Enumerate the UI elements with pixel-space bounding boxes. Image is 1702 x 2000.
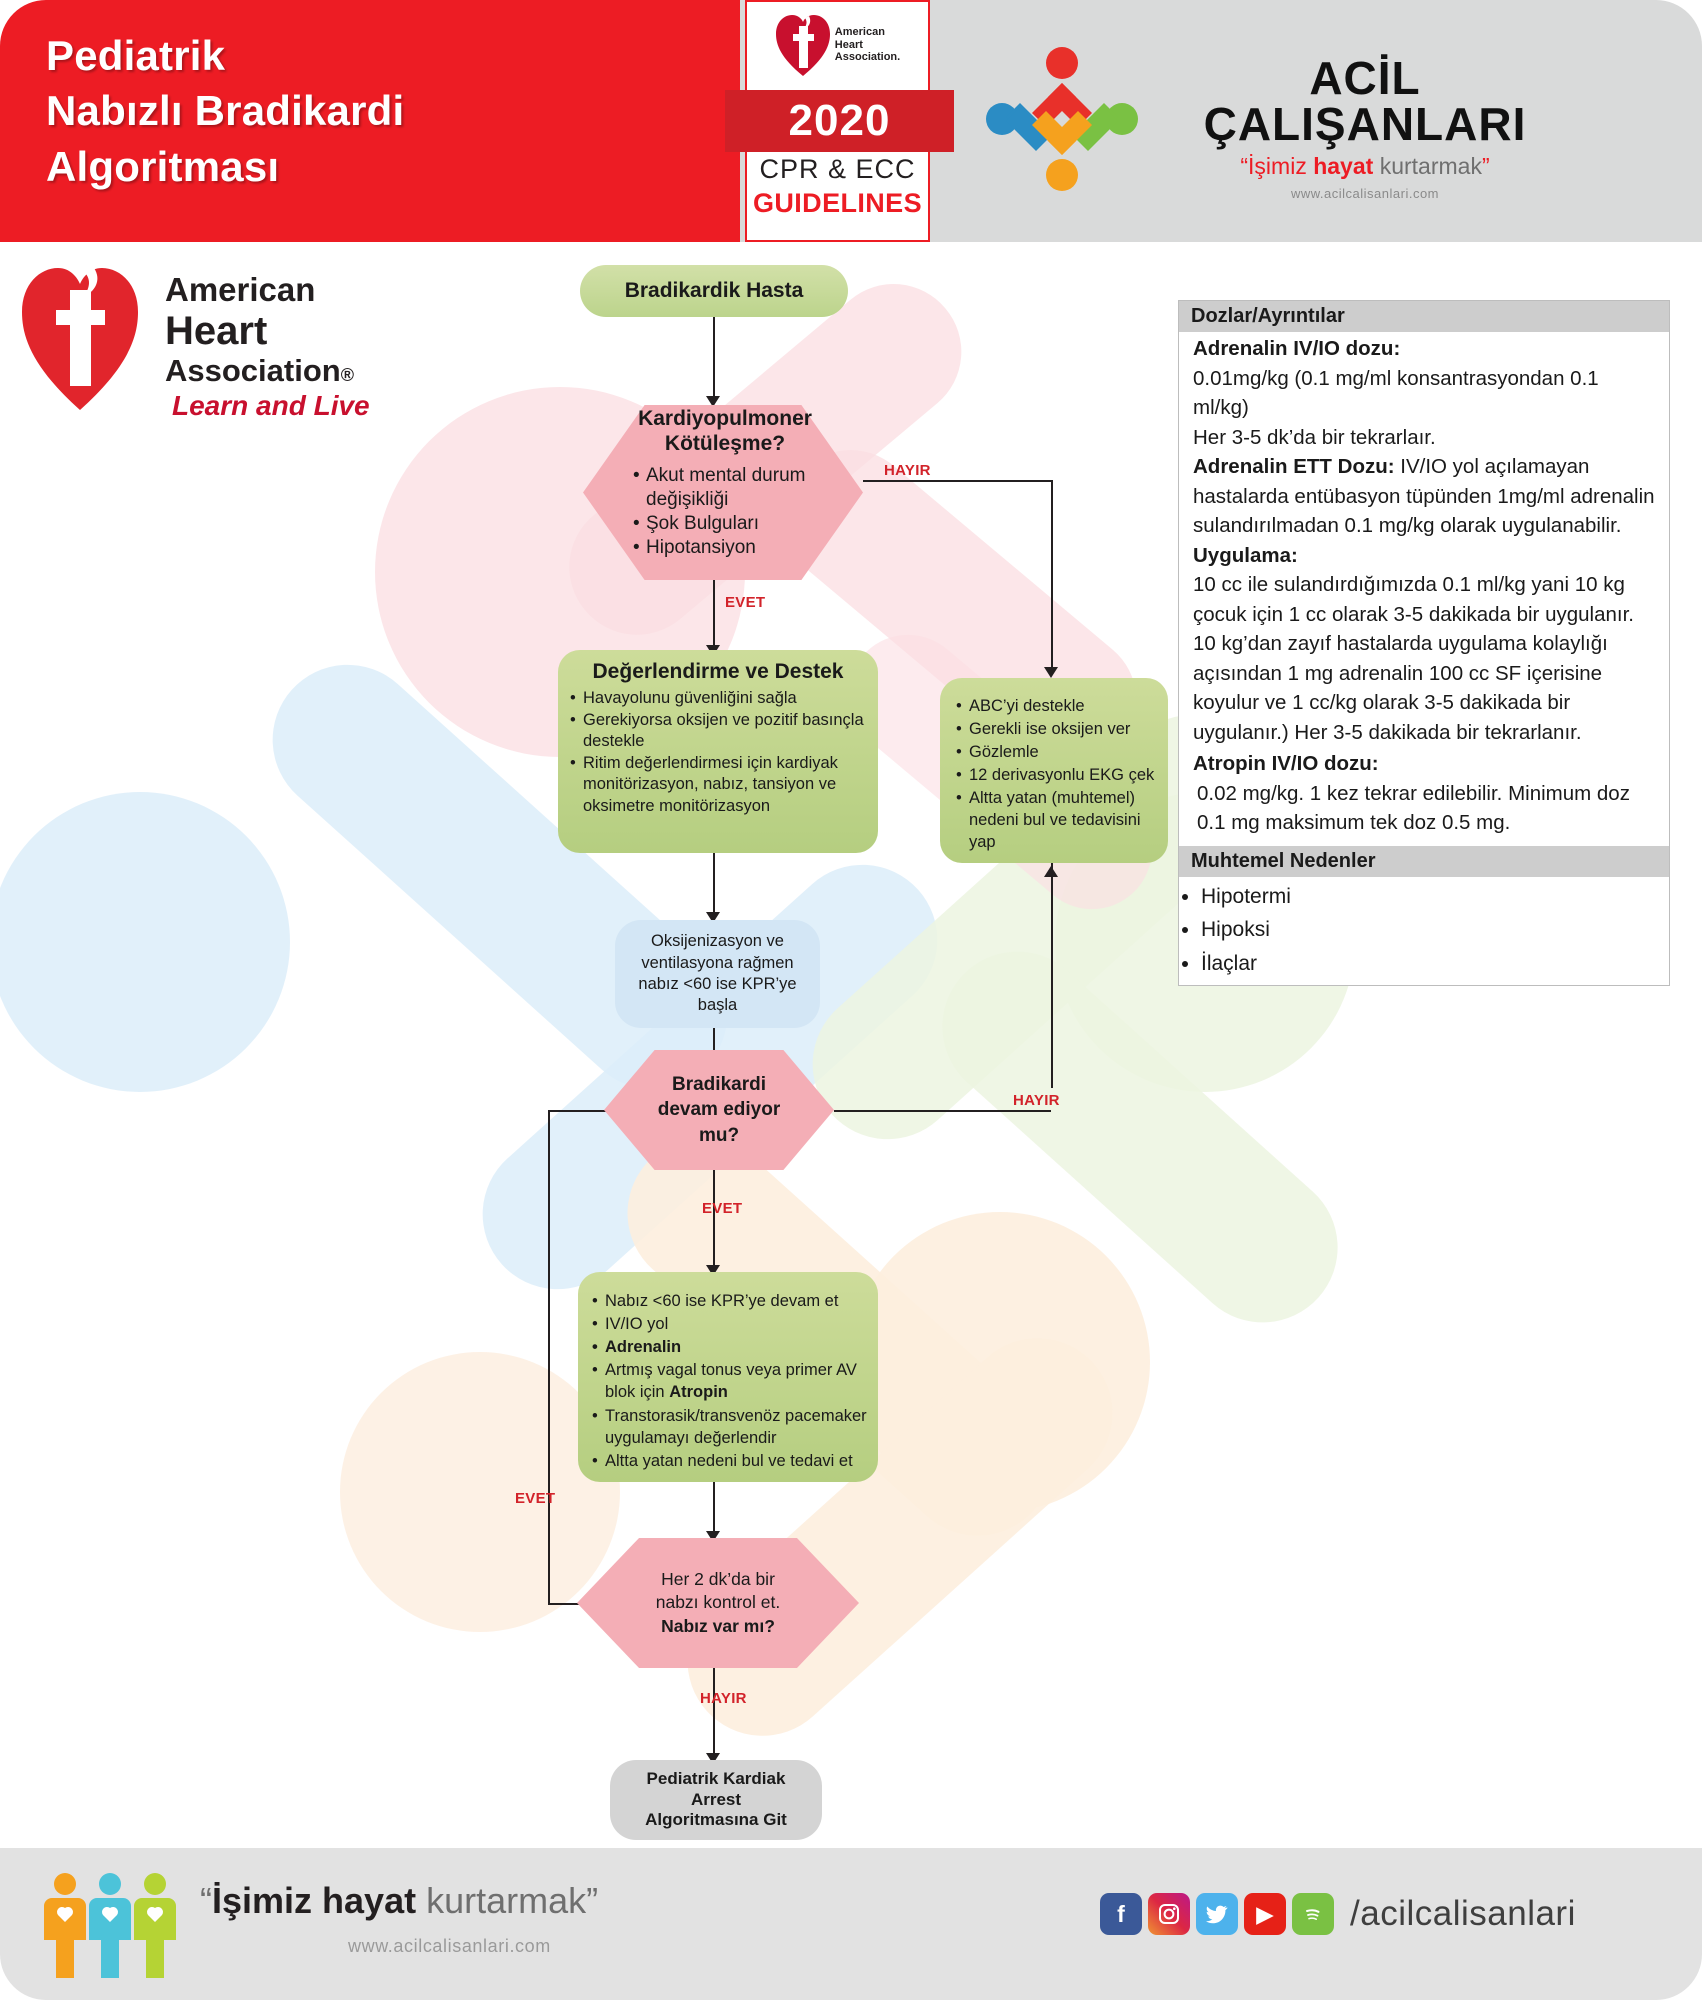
- badge-guidelines: GUIDELINES: [747, 188, 928, 219]
- list-item: Gözlemle: [956, 742, 1160, 764]
- list-item: Hipotermi: [1201, 881, 1669, 913]
- flow-end-line-2: Arrest: [691, 1790, 741, 1811]
- youtube-icon[interactable]: ▶: [1244, 1893, 1286, 1935]
- badge-aha-text: American Heart Association.: [835, 26, 900, 65]
- list-item: Havayolunu güvenliğini sağla: [570, 688, 868, 709]
- footer-quote-open: “: [200, 1880, 212, 1921]
- slogan-bold: hayat: [1313, 153, 1373, 179]
- connector-decision3-no: [713, 1668, 715, 1756]
- footer-slogan-part-1: İşimiz: [212, 1880, 322, 1921]
- flow-decision1-content: Kardiyopulmoner Kötüleşme? Akut mental d…: [600, 398, 850, 560]
- badge-aha-line-2: Heart: [835, 39, 900, 52]
- badge-aha-lockup: American Heart Association.: [769, 2, 906, 80]
- footer-slogan-part-2: kurtarmak: [416, 1880, 586, 1921]
- adrenalin-iv-text: 0.01mg/kg (0.1 mg/ml konsantrasyondan 0.…: [1193, 364, 1655, 423]
- list-item: Hipotansiyon: [633, 536, 850, 559]
- aha-logo-text: American Heart Association®: [165, 272, 354, 388]
- instagram-icon[interactable]: [1148, 1893, 1190, 1935]
- flow-node-cpr-note[interactable]: Oksijenizasyon ve ventilasyona rağmen na…: [615, 920, 820, 1028]
- flow-node-assessment[interactable]: Değerlendirme ve Destek Havayolunu güven…: [558, 650, 878, 853]
- aha-line-1: American: [165, 272, 354, 309]
- aha-logo: American Heart Association® Learn and Li…: [20, 262, 430, 462]
- list-item: Akut mental durum değişikliği: [633, 464, 850, 510]
- flow-decision1-bullets: Akut mental durum değişikliği Şok Bulgul…: [633, 464, 850, 559]
- badge-aha-line-1: American: [835, 26, 900, 39]
- badge-cpr-ecc: CPR & ECC: [747, 154, 928, 185]
- dose-details-panel: Dozlar/Ayrıntılar Adrenalin IV/IO dozu: …: [1178, 300, 1670, 986]
- connector-decision1-no: [863, 480, 1053, 482]
- aha-heart-torch-icon: [20, 262, 140, 412]
- page-footer: “İşimiz hayat kurtarmak” www.acilcalisan…: [0, 1848, 1702, 2000]
- page-title-line-3: Algoritması: [46, 139, 686, 194]
- label-decision2-yes: EVET: [702, 1200, 742, 1217]
- page-header: Pediatrik Nabızlı Bradikardi Algoritması…: [0, 0, 1702, 242]
- list-item: Hipoksi: [1201, 914, 1669, 946]
- uygulama-text: 10 cc ile sulandırdığımızda 0.1 ml/kg ya…: [1193, 570, 1655, 747]
- connector-decision1-yes: [713, 580, 715, 648]
- connector-assessment-to-cprnote: [713, 853, 715, 915]
- list-item: IV/IO yol: [592, 1313, 870, 1335]
- connector-decision2-no: [834, 1110, 1051, 1112]
- acil-calisanlari-logo-icon: [980, 45, 1145, 195]
- label-decision2-no: HAYIR: [1013, 1092, 1060, 1109]
- aha-heart-torch-icon: [775, 12, 831, 78]
- spotify-icon[interactable]: [1292, 1893, 1334, 1935]
- flow-decision3-line-3: Nabız var mı?: [656, 1615, 781, 1639]
- connector-loop-top: [548, 1110, 606, 1112]
- flow-decision2-line-3: mu?: [658, 1123, 781, 1148]
- label-decision1-no: HAYIR: [884, 462, 931, 479]
- flow-decision3-line-1: Her 2 dk’da bir: [656, 1568, 781, 1592]
- flow-assessment-title: Değerlendirme ve Destek: [558, 660, 878, 684]
- list-item: ABC’yi destekle: [956, 696, 1160, 718]
- list-item: Nabız <60 ise KPR’ye devam et: [592, 1290, 870, 1312]
- list-item: Ritim değerlendirmesi için kardiyak moni…: [570, 753, 868, 816]
- brand-slogan: “İşimiz hayat kurtarmak”: [1155, 155, 1575, 178]
- page-title-line-2: Nabızlı Bradikardi: [46, 83, 686, 138]
- social-links: f ▶ /acilcalisanlari: [1100, 1893, 1576, 1935]
- brand-lockup: ACİL ÇALIŞANLARI “İşimiz hayat kurtarmak…: [1155, 55, 1575, 201]
- atropin-text: 0.02 mg/kg. 1 kez tekrar edilebilir. Min…: [1193, 779, 1655, 838]
- connector-decision2-yes: [713, 1170, 715, 1268]
- aha-line-3: Association®: [165, 354, 354, 389]
- slogan-quote-open: “: [1240, 153, 1248, 179]
- badge-year-band: 2020: [725, 90, 954, 152]
- brand-name: ACİL ÇALIŞANLARI: [1155, 55, 1575, 147]
- flow-cpr-note-text: Oksijenizasyon ve ventilasyona rağmen na…: [615, 931, 820, 1017]
- flow-node-end-cardiac-arrest[interactable]: Pediatrik Kardiak Arrest Algoritmasına G…: [610, 1760, 822, 1840]
- uygulama-label: Uygulama:: [1193, 544, 1298, 567]
- flow-end-line-3: Algoritmasına Git: [645, 1810, 787, 1831]
- flow-start-label: Bradikardik Hasta: [625, 279, 804, 303]
- flow-node-treatment[interactable]: Nabız <60 ise KPR’ye devam et IV/IO yol …: [578, 1272, 878, 1482]
- footer-quote-close: ”: [586, 1880, 598, 1921]
- slogan-part-2: kurtarmak: [1373, 153, 1482, 179]
- twitter-icon[interactable]: [1196, 1893, 1238, 1935]
- causes-header: Muhtemel Nedenler: [1179, 846, 1669, 877]
- flow-decision1-title-2: Kötüleşme?: [600, 431, 850, 456]
- dose-panel-body: Adrenalin IV/IO dozu: 0.01mg/kg (0.1 mg/…: [1179, 332, 1669, 846]
- atropin-label: Atropin IV/IO dozu:: [1193, 752, 1379, 775]
- flow-assessment-bullets: Havayolunu güvenliğini sağla Gerekiyorsa…: [570, 688, 868, 817]
- list-item: Altta yatan nedeni bul ve tedavi et: [592, 1450, 870, 1472]
- list-item: Altta yatan (muhtemel) nedeni bul ve ted…: [956, 788, 1160, 854]
- connector-treatment-to-decision3: [713, 1482, 715, 1534]
- flow-node-support[interactable]: ABC’yi destekle Gerekli ise oksijen ver …: [940, 678, 1168, 863]
- aha-tagline: Learn and Live: [172, 390, 370, 422]
- adrenalin-iv-repeat: Her 3-5 dk’da bir tekrarlaır.: [1193, 423, 1655, 453]
- family-figures-icon: [40, 1870, 190, 1980]
- flow-decision2-line-2: devam ediyor: [658, 1097, 781, 1122]
- list-item: Şok Bulguları: [633, 512, 850, 535]
- flow-decision2-line-1: Bradikardi: [658, 1072, 781, 1097]
- adrenalin-ett-label: Adrenalin ETT Dozu:: [1193, 455, 1395, 478]
- connector-decision2-no-up: [1051, 863, 1053, 1088]
- flow-decision3-line-2: nabzı kontrol et.: [656, 1591, 781, 1615]
- flow-support-bullets: ABC’yi destekle Gerekli ise oksijen ver …: [956, 696, 1160, 854]
- aha-line-2: Heart: [165, 309, 354, 354]
- flow-decision2-text: Bradikardi devam ediyor mu?: [658, 1072, 781, 1147]
- list-item: Transtorasik/transvenöz pacemaker uygula…: [592, 1405, 870, 1449]
- aha-2020-guidelines-badge: American Heart Association. 2020 CPR & E…: [745, 0, 930, 242]
- list-item: Gerekiyorsa oksijen ve pozitif basınçla …: [570, 710, 868, 752]
- dose-panel-header: Dozlar/Ayrıntılar: [1179, 301, 1669, 332]
- list-item: İlaçlar: [1201, 948, 1669, 980]
- badge-aha-line-3: Association.: [835, 51, 900, 64]
- list-item: Gerekli ise oksijen ver: [956, 719, 1160, 741]
- causes-list: Hipotermi Hipoksi İlaçlar: [1179, 881, 1669, 980]
- list-item: 12 derivasyonlu EKG çek: [956, 765, 1160, 787]
- footer-url: www.acilcalisanlari.com: [348, 1936, 551, 1957]
- label-decision1-yes: EVET: [725, 594, 765, 611]
- adrenalin-iv-label: Adrenalin IV/IO dozu:: [1193, 337, 1400, 360]
- flow-treatment-bullets: Nabız <60 ise KPR’ye devam et IV/IO yol …: [592, 1290, 870, 1472]
- label-decision3-yes: EVET: [515, 1490, 555, 1507]
- facebook-icon[interactable]: f: [1100, 1893, 1142, 1935]
- registered-mark: ®: [341, 365, 354, 385]
- slogan-quote-close: ”: [1482, 153, 1490, 179]
- brand-url: www.acilcalisanlari.com: [1155, 186, 1575, 201]
- arrow-decision1-no: [1044, 667, 1058, 678]
- arrow-decision2-no-into-support: [1044, 866, 1058, 877]
- flow-decision3-text: Her 2 dk’da bir nabzı kontrol et. Nabız …: [656, 1568, 781, 1639]
- footer-slogan-bold: hayat: [322, 1880, 416, 1921]
- flow-decision1-title-1: Kardiyopulmoner: [600, 406, 850, 431]
- list-item: Artmış vagal tonus veya primer AV blok i…: [592, 1359, 870, 1403]
- footer-slogan: “İşimiz hayat kurtarmak”: [200, 1880, 598, 1922]
- badge-year: 2020: [789, 99, 891, 143]
- page-title-line-1: Pediatrik: [46, 28, 686, 83]
- slogan-part-1: İşimiz: [1248, 153, 1313, 179]
- label-decision3-no: HAYIR: [700, 1690, 747, 1707]
- page-title: Pediatrik Nabızlı Bradikardi Algoritması: [46, 28, 686, 194]
- list-item: Adrenalin: [592, 1336, 870, 1358]
- flow-end-line-1: Pediatrik Kardiak: [647, 1769, 786, 1790]
- connector-start-to-decision1: [713, 317, 715, 399]
- connector-loop-left: [548, 1110, 550, 1605]
- flow-node-start[interactable]: Bradikardik Hasta: [580, 265, 848, 317]
- social-handle[interactable]: /acilcalisanlari: [1350, 1894, 1576, 1934]
- connector-decision1-no-down: [1051, 480, 1053, 670]
